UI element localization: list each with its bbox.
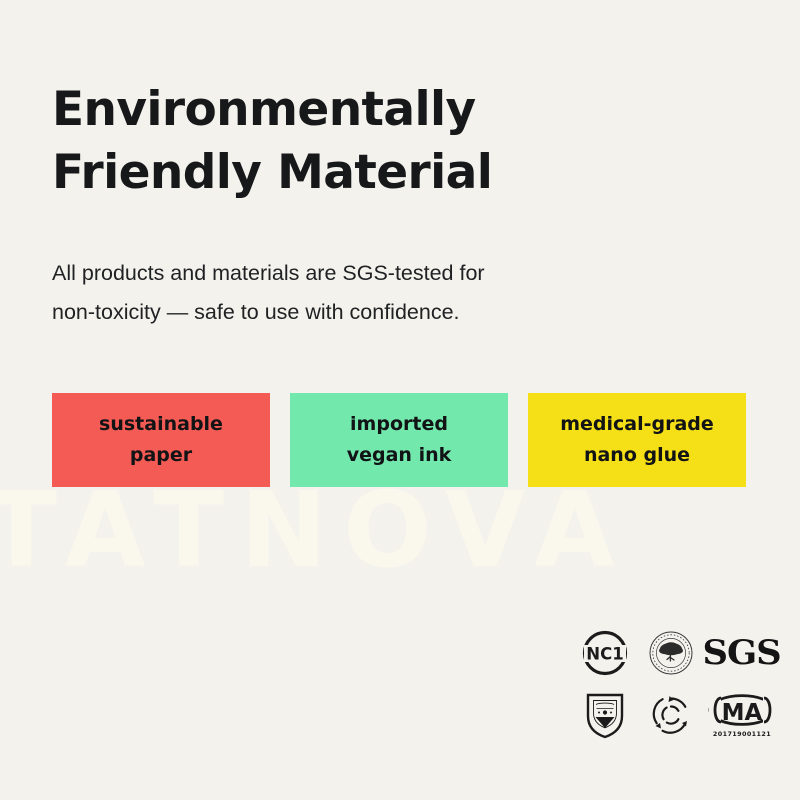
brand-watermark: TATNOVA	[0, 478, 800, 582]
material-tag-line-1: medical-grade	[560, 409, 714, 440]
material-tag-sustainable-paper: sustainable paper	[52, 393, 270, 487]
material-tag-line-1: imported	[350, 409, 448, 440]
nc1-certification-badge: NC1	[572, 622, 638, 684]
material-tag-line-2: paper	[130, 440, 192, 471]
forest-certification-badge	[638, 622, 704, 684]
shield-chevron-icon	[584, 690, 626, 740]
svg-text:MA: MA	[722, 700, 763, 726]
tree-seal-icon	[647, 629, 695, 677]
material-tag-row: sustainable paper imported vegan ink med…	[52, 393, 752, 487]
material-tag-line-2: vegan ink	[347, 440, 452, 471]
material-tag-imported-vegan-ink: imported vegan ink	[290, 393, 508, 487]
page-title-line-1: Environmentally	[52, 79, 692, 142]
recycle-arrows-icon	[648, 692, 694, 738]
page-subtitle: All products and materials are SGS-teste…	[52, 254, 672, 333]
poster-canvas: TATNOVA Environmentally Friendly Materia…	[0, 0, 800, 800]
certification-badge-grid: NC1	[572, 622, 780, 748]
page-subtitle-line-2: non-toxicity — safe to use with confiden…	[52, 293, 672, 332]
material-tag-line-1: sustainable	[99, 409, 223, 440]
material-tag-medical-grade-nano-glue: medical-grade nano glue	[528, 393, 746, 487]
svg-text:NC1: NC1	[586, 645, 623, 664]
sgs-certification-badge: SGS	[704, 622, 780, 684]
shield-certification-badge	[572, 684, 638, 746]
cma-certification-badge: MA 201719001121	[704, 684, 780, 746]
nc1-circle-icon: NC1	[581, 629, 629, 677]
page-subtitle-line-1: All products and materials are SGS-teste…	[52, 254, 672, 293]
cma-certificate-number: 201719001121	[713, 730, 771, 738]
cma-oval-icon: MA 201719001121	[707, 692, 777, 738]
page-title: Environmentally Friendly Material	[52, 79, 692, 205]
page-title-line-2: Friendly Material	[52, 142, 692, 205]
material-tag-line-2: nano glue	[584, 440, 690, 471]
recycle-certification-badge	[638, 684, 704, 746]
sgs-wordmark-icon: SGS	[703, 636, 781, 670]
